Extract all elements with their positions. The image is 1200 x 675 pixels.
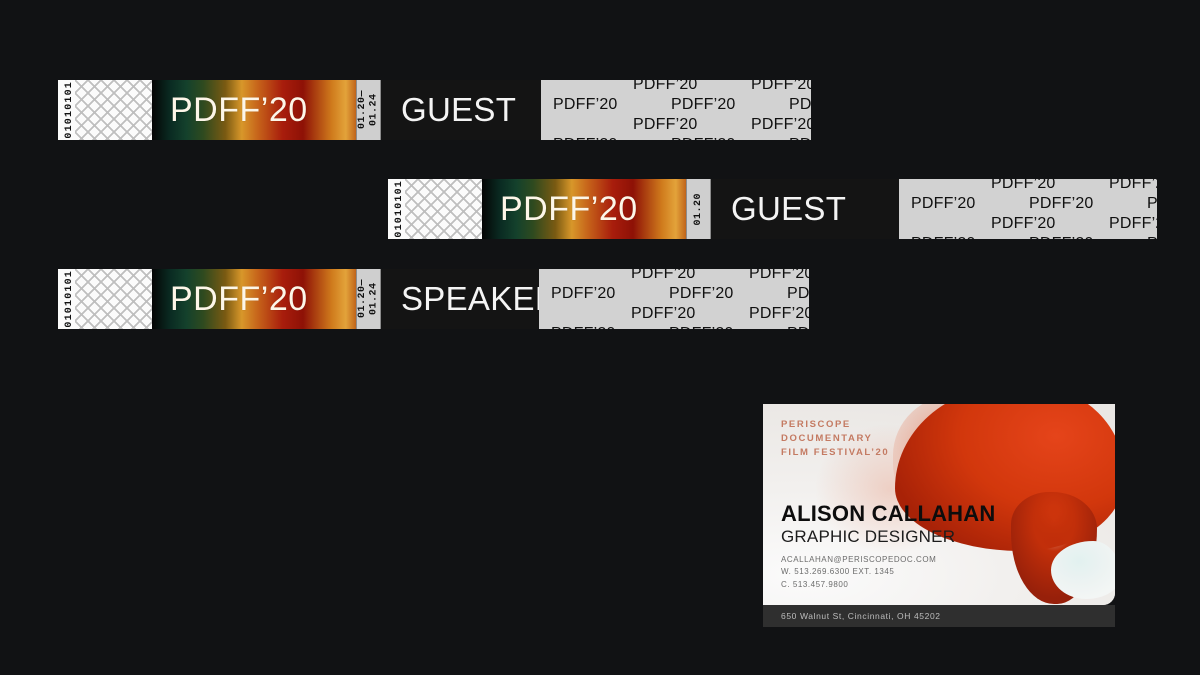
- card-phone-cell: C. 513.457.9800: [781, 579, 995, 591]
- stub-barcode-number: 01010101: [65, 81, 75, 139]
- wristband-gradient-panel: PDFF’20: [152, 269, 356, 329]
- pattern-row: PDFF’20PDFF’20PDFF’20PDFF’20: [553, 136, 811, 140]
- card-phone-work: W. 513.269.6300 EXT. 1345: [781, 566, 995, 578]
- wristband-speaker-full: 01010101 PDFF’20 01.20— 01.24 SPEAKER PD…: [58, 269, 809, 329]
- wristband-stub: 01010101: [58, 269, 152, 329]
- card-person-name: ALISON CALLAHAN: [781, 502, 995, 526]
- card-festival-line-2: DOCUMENTARY: [781, 432, 889, 446]
- card-job-title: GRAPHIC DESIGNER: [781, 527, 995, 547]
- stub-barcode-number: 01010101: [395, 180, 405, 238]
- wristband-guest-single-day: 01010101 PDFF’20 01.20 GUEST PDFF’20PDFF…: [388, 179, 1157, 239]
- card-email: ACALLAHAN@PERISCOPEDOC.COM: [781, 554, 995, 566]
- card-festival-line-3: FILM FESTIVAL’20: [781, 446, 889, 460]
- wristband-stub: 01010101: [388, 179, 482, 239]
- wristband-date-tab: 01.20: [686, 179, 711, 239]
- wristband-role-panel: SPEAKER: [381, 269, 539, 329]
- wristband-logo: PDFF’20: [152, 280, 308, 319]
- wristband-role-label: GUEST: [711, 190, 846, 228]
- design-mockup-canvas: 01010101 PDFF’20 01.20— 01.24 GUEST PDFF…: [0, 0, 1200, 675]
- wristband-logo: PDFF’20: [482, 190, 638, 229]
- wristband-role-label: GUEST: [381, 91, 516, 129]
- pattern-row: PDFF’20PDFF’20PDFF’20PDFF’20: [631, 269, 809, 283]
- zigzag-pattern-icon: [75, 80, 152, 140]
- pattern-row: PDFF’20PDFF’20PDFF’20PDFF’20: [633, 116, 811, 134]
- card-address-bar: 650 Walnut St, Cincinnati, OH 45202: [763, 605, 1115, 627]
- pattern-row: PDFF’20PDFF’20PDFF’20PDFF’20: [551, 285, 809, 303]
- card-contact-block: ALISON CALLAHAN GRAPHIC DESIGNER ACALLAH…: [781, 502, 995, 591]
- wristband-guest-full: 01010101 PDFF’20 01.20— 01.24 GUEST PDFF…: [58, 80, 811, 140]
- pattern-row: PDFF’20PDFF’20PDFF’20PDFF’20: [911, 195, 1157, 213]
- stub-barcode-number: 01010101: [65, 270, 75, 328]
- business-card-face: PERISCOPE DOCUMENTARY FILM FESTIVAL’20 A…: [763, 404, 1115, 605]
- wristband-stub: 01010101: [58, 80, 152, 140]
- zigzag-pattern-icon: [75, 269, 152, 329]
- pattern-row: PDFF’20PDFF’20PDFF’20PDFF’20: [631, 305, 809, 323]
- wristband-gradient-panel: PDFF’20: [152, 80, 356, 140]
- business-card: PERISCOPE DOCUMENTARY FILM FESTIVAL’20 A…: [763, 404, 1115, 605]
- wristband-date-tab: 01.20— 01.24: [356, 269, 381, 329]
- wristband-pattern-panel: PDFF’20PDFF’20PDFF’20PDFF’20 PDFF’20PDFF…: [541, 80, 811, 140]
- wristband-date-text: 01.20— 01.24: [357, 279, 380, 318]
- wristband-logo: PDFF’20: [152, 91, 308, 130]
- wristband-role-label: SPEAKER: [381, 280, 559, 318]
- card-address: 650 Walnut St, Cincinnati, OH 45202: [763, 611, 941, 621]
- wristband-date-text: 01.20: [693, 193, 705, 226]
- pattern-row: PDFF’20PDFF’20PDFF’20PDFF’20: [991, 179, 1157, 193]
- card-festival-line-1: PERISCOPE: [781, 418, 889, 432]
- wristband-pattern-panel: PDFF’20PDFF’20PDFF’20PDFF’20 PDFF’20PDFF…: [899, 179, 1157, 239]
- pattern-row: PDFF’20PDFF’20PDFF’20PDFF’20: [553, 96, 811, 114]
- zigzag-pattern-icon: [405, 179, 482, 239]
- pattern-row: PDFF’20PDFF’20PDFF’20PDFF’20: [551, 325, 809, 329]
- wristband-gradient-panel: PDFF’20: [482, 179, 686, 239]
- pattern-row: PDFF’20PDFF’20PDFF’20PDFF’20: [633, 80, 811, 94]
- wristband-date-tab: 01.20— 01.24: [356, 80, 381, 140]
- wristband-date-text: 01.20— 01.24: [357, 90, 380, 129]
- wristband-pattern-panel: PDFF’20PDFF’20PDFF’20PDFF’20 PDFF’20PDFF…: [539, 269, 809, 329]
- pattern-row: PDFF’20PDFF’20PDFF’20PDFF’20: [991, 215, 1157, 233]
- card-festival-name: PERISCOPE DOCUMENTARY FILM FESTIVAL’20: [781, 418, 889, 459]
- wristband-role-panel: GUEST: [711, 179, 899, 239]
- wristband-role-panel: GUEST: [381, 80, 541, 140]
- card-contact-details: ACALLAHAN@PERISCOPEDOC.COM W. 513.269.63…: [781, 554, 995, 591]
- pattern-row: PDFF’20PDFF’20PDFF’20PDFF’20: [911, 235, 1157, 239]
